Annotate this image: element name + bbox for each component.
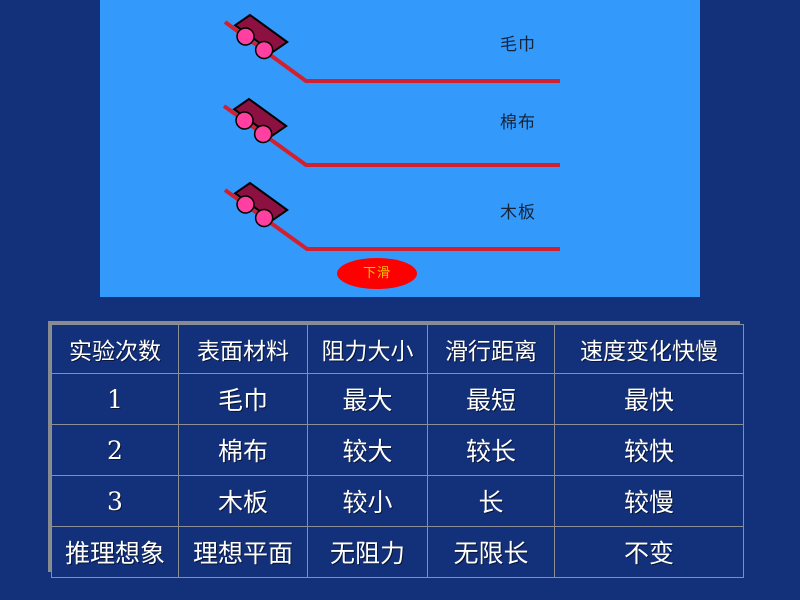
table-cell-text: 较慢 [624,483,674,519]
table-cell-text: 无限长 [453,534,528,570]
surface-label-wooden-board: 木板 [500,198,536,223]
table-cell: 最快 [555,374,744,425]
table-cell-text: 推理想象 [65,534,165,570]
table-cell-text: 最快 [624,381,674,417]
table-cell: 2 [52,425,179,476]
table-cell: 较快 [555,425,744,476]
table-cell-text: 较大 [342,432,392,468]
table-header-row: 实验次数表面材料阻力大小滑行距离速度变化快慢 [52,325,744,374]
table-cell: 木板 [179,476,308,527]
table-row: 2棉布较大较长较快 [52,425,744,476]
surface-label-towel: 毛巾 [500,30,536,55]
table-cell-text: 3 [107,487,123,516]
table-cell: 长 [428,476,555,527]
table-header-text: 滑行距离 [445,332,537,366]
slide-down-button-label: 下滑 [363,267,391,280]
slide-down-button[interactable]: 下滑 [337,258,417,289]
table-cell: 棉布 [179,425,308,476]
table-row: 1毛巾最大最短最快 [52,374,744,425]
table-header-text: 实验次数 [69,332,161,366]
table-cell-text: 最短 [466,381,516,417]
experiment-results-table: 实验次数表面材料阻力大小滑行距离速度变化快慢1毛巾最大最短最快2棉布较大较长较快… [48,321,740,572]
cart-1 [228,11,287,65]
table-cell: 推理想象 [52,527,179,578]
cart-2 [227,95,286,149]
table-cell-text: 不变 [624,534,674,570]
table-header-cell: 阻力大小 [308,325,428,374]
table-row: 推理想象理想平面无阻力无限长不变 [52,527,744,578]
table-cell: 无阻力 [308,527,428,578]
table-cell: 较慢 [555,476,744,527]
table-header-cell: 实验次数 [52,325,179,374]
table-header-cell: 滑行距离 [428,325,555,374]
table-header-cell: 速度变化快慢 [555,325,744,374]
table-cell-text: 木板 [218,483,268,519]
diagram-panel: 毛巾 棉布 木板 下滑 [100,0,700,297]
table-cell-text: 1 [107,385,123,414]
table-cell-text: 较小 [342,483,392,519]
table-row: 3木板较小长较慢 [52,476,744,527]
table-header-text: 阻力大小 [322,332,414,366]
table-cell: 不变 [555,527,744,578]
cart-3 [228,179,287,233]
table-cell: 理想平面 [179,527,308,578]
table-cell-text: 棉布 [218,432,268,468]
table-cell: 较长 [428,425,555,476]
surface-label-cotton: 棉布 [500,108,536,133]
table-cell: 毛巾 [179,374,308,425]
table-cell: 较小 [308,476,428,527]
table-header-text: 表面材料 [197,332,289,366]
table-cell: 最短 [428,374,555,425]
table-cell-text: 长 [478,483,503,519]
table-cell-text: 2 [107,436,123,465]
table-cell-text: 毛巾 [218,381,268,417]
table-cell: 无限长 [428,527,555,578]
table-header-cell: 表面材料 [179,325,308,374]
table-cell: 较大 [308,425,428,476]
ramps-illustration [100,0,700,297]
table-header-text: 速度变化快慢 [580,332,718,366]
table-cell-text: 较快 [624,432,674,468]
table-cell: 3 [52,476,179,527]
table-cell: 1 [52,374,179,425]
table-cell-text: 无阻力 [330,534,405,570]
table-cell: 最大 [308,374,428,425]
slide-canvas: 毛巾 棉布 木板 下滑 实验次数表面材料阻力大小滑行距离速度变化快慢1毛巾最大最… [0,0,800,600]
table-cell-text: 最大 [342,381,392,417]
table-cell-text: 较长 [466,432,516,468]
table-cell-text: 理想平面 [193,534,293,570]
